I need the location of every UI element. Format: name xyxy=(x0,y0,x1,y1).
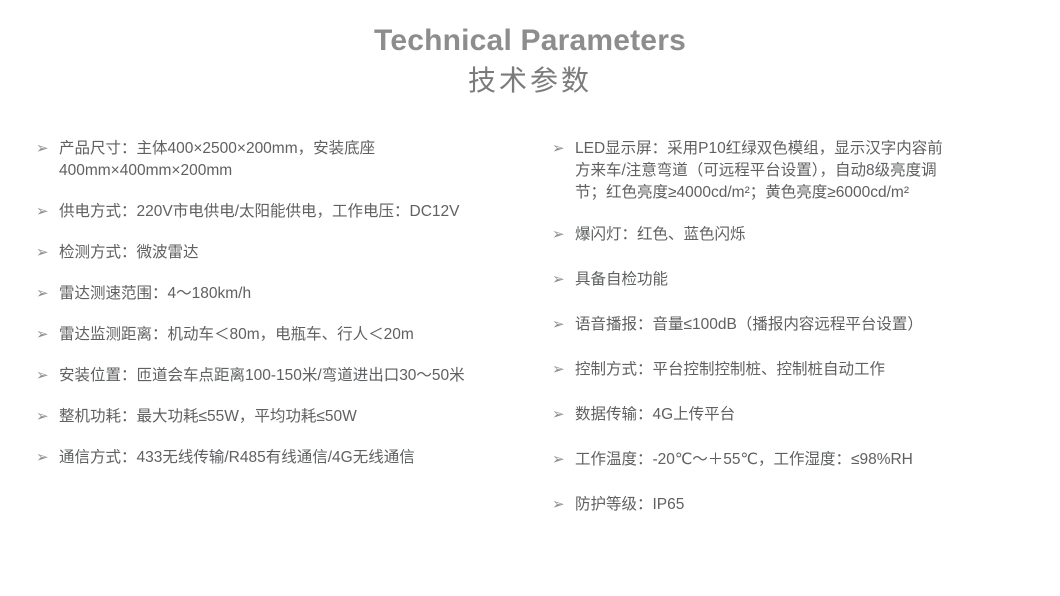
arrow-bullet-icon: ➢ xyxy=(36,324,59,346)
spec-text: 产品尺寸：主体400×2500×200mm，安装底座 400mm×400mm×2… xyxy=(59,138,534,182)
arrow-bullet-icon: ➢ xyxy=(552,359,575,381)
spec-item-operating-temperature: ➢ 工作温度：-20℃～＋55℃，工作湿度：≤98%RH xyxy=(552,449,1046,471)
arrow-bullet-icon: ➢ xyxy=(552,494,575,516)
arrow-bullet-icon: ➢ xyxy=(552,449,575,471)
page-title-english: Technical Parameters xyxy=(0,22,1060,60)
arrow-bullet-icon: ➢ xyxy=(36,365,59,387)
spec-text: 雷达测速范围：4～180km/h xyxy=(59,283,534,305)
spec-item-data-transmission: ➢ 数据传输：4G上传平台 xyxy=(552,404,1046,426)
spec-text: LED显示屏：采用P10红绿双色模组，显示汉字内容前 方来车/注意弯道（可远程平… xyxy=(575,138,1046,204)
spec-text: 通信方式：433无线传输/R485有线通信/4G无线通信 xyxy=(59,447,534,469)
arrow-bullet-icon: ➢ xyxy=(552,404,575,426)
technical-parameters-page: Technical Parameters 技术参数 ➢ 产品尺寸：主体400×2… xyxy=(0,0,1060,596)
spec-item-communication-method: ➢ 通信方式：433无线传输/R485有线通信/4G无线通信 xyxy=(36,447,534,469)
arrow-bullet-icon: ➢ xyxy=(36,447,59,469)
arrow-bullet-icon: ➢ xyxy=(36,138,59,160)
spec-text: 防护等级：IP65 xyxy=(575,494,1046,516)
spec-item-led-display: ➢ LED显示屏：采用P10红绿双色模组，显示汉字内容前 方来车/注意弯道（可远… xyxy=(552,138,1046,204)
page-header: Technical Parameters 技术参数 xyxy=(0,0,1060,99)
spec-text: 具备自检功能 xyxy=(575,269,1046,291)
spec-item-power-supply: ➢ 供电方式：220V市电供电/太阳能供电，工作电压：DC12V xyxy=(36,201,534,223)
arrow-bullet-icon: ➢ xyxy=(552,314,575,336)
spec-text: 语音播报：音量≤100dB（播报内容远程平台设置） xyxy=(575,314,1046,336)
spec-item-power-consumption: ➢ 整机功耗：最大功耗≤55W，平均功耗≤50W xyxy=(36,406,534,428)
arrow-bullet-icon: ➢ xyxy=(36,283,59,305)
spec-item-installation-position: ➢ 安装位置：匝道会车点距离100-150米/弯道进出口30～50米 xyxy=(36,365,534,387)
spec-item-strobe-light: ➢ 爆闪灯：红色、蓝色闪烁 xyxy=(552,224,1046,246)
arrow-bullet-icon: ➢ xyxy=(36,201,59,223)
spec-text: 工作温度：-20℃～＋55℃，工作湿度：≤98%RH xyxy=(575,449,1046,471)
spec-text: 供电方式：220V市电供电/太阳能供电，工作电压：DC12V xyxy=(59,201,534,223)
spec-item-detection-method: ➢ 检测方式：微波雷达 xyxy=(36,242,534,264)
spec-item-self-check: ➢ 具备自检功能 xyxy=(552,269,1046,291)
arrow-bullet-icon: ➢ xyxy=(552,138,575,160)
spec-text: 整机功耗：最大功耗≤55W，平均功耗≤50W xyxy=(59,406,534,428)
spec-text: 数据传输：4G上传平台 xyxy=(575,404,1046,426)
spec-text: 安装位置：匝道会车点距离100-150米/弯道进出口30～50米 xyxy=(59,365,534,387)
arrow-bullet-icon: ➢ xyxy=(552,269,575,291)
spec-item-ingress-protection: ➢ 防护等级：IP65 xyxy=(552,494,1046,516)
specs-columns: ➢ 产品尺寸：主体400×2500×200mm，安装底座 400mm×400mm… xyxy=(0,138,1060,539)
specs-column-left: ➢ 产品尺寸：主体400×2500×200mm，安装底座 400mm×400mm… xyxy=(0,138,540,469)
spec-text: 雷达监测距离：机动车＜80m，电瓶车、行人＜20m xyxy=(59,324,534,346)
arrow-bullet-icon: ➢ xyxy=(36,406,59,428)
spec-text: 检测方式：微波雷达 xyxy=(59,242,534,264)
specs-column-right: ➢ LED显示屏：采用P10红绿双色模组，显示汉字内容前 方来车/注意弯道（可远… xyxy=(540,138,1060,539)
arrow-bullet-icon: ➢ xyxy=(552,224,575,246)
spec-text: 爆闪灯：红色、蓝色闪烁 xyxy=(575,224,1046,246)
spec-item-voice-broadcast: ➢ 语音播报：音量≤100dB（播报内容远程平台设置） xyxy=(552,314,1046,336)
page-title-chinese: 技术参数 xyxy=(0,62,1060,100)
spec-item-control-method: ➢ 控制方式：平台控制控制桩、控制桩自动工作 xyxy=(552,359,1046,381)
spec-text: 控制方式：平台控制控制桩、控制桩自动工作 xyxy=(575,359,1046,381)
spec-item-radar-detection-distance: ➢ 雷达监测距离：机动车＜80m，电瓶车、行人＜20m xyxy=(36,324,534,346)
spec-item-product-dimensions: ➢ 产品尺寸：主体400×2500×200mm，安装底座 400mm×400mm… xyxy=(36,138,534,182)
spec-item-radar-speed-range: ➢ 雷达测速范围：4～180km/h xyxy=(36,283,534,305)
arrow-bullet-icon: ➢ xyxy=(36,242,59,264)
